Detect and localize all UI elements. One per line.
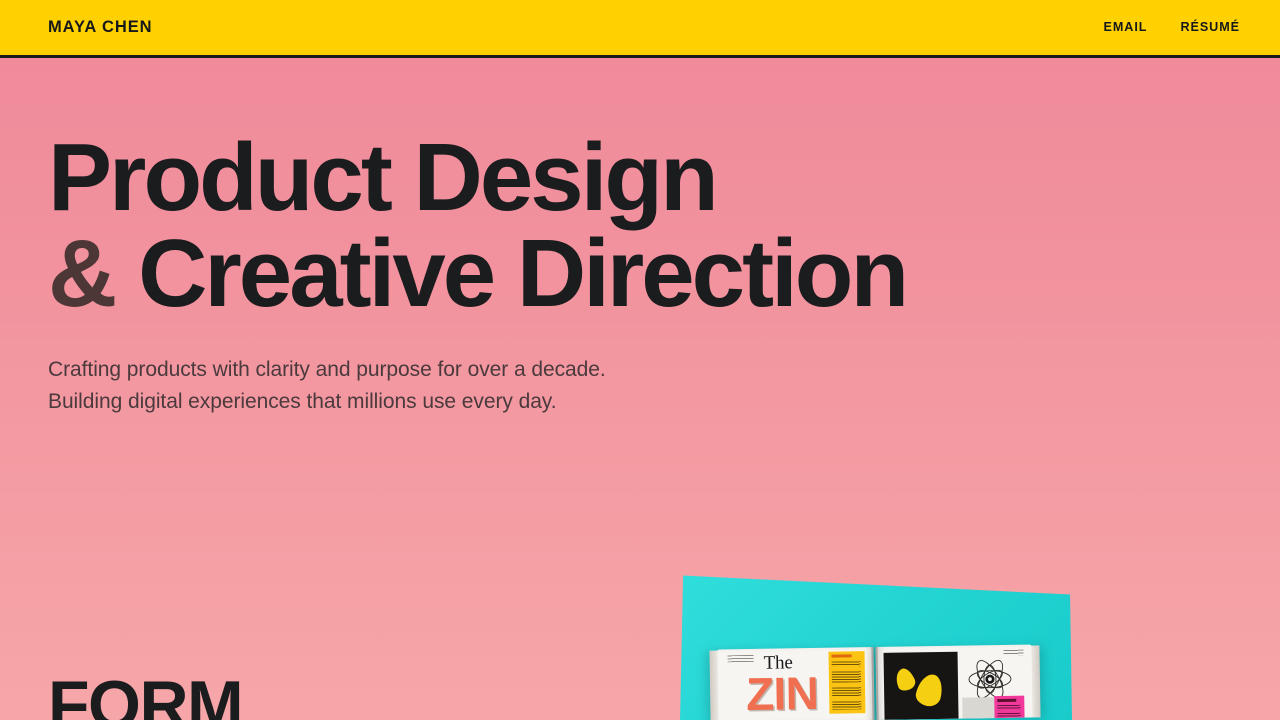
magazine-left-page: The ZIN: [717, 647, 874, 720]
magazine-spine: [871, 647, 878, 720]
open-magazine: The ZIN: [709, 644, 1040, 720]
pear-shape-small: [892, 666, 917, 693]
atom-diagram-icon: [966, 658, 1015, 701]
note-headline-bar: [997, 699, 1016, 702]
sidebar-text-lines: [832, 701, 861, 709]
headline-line-1: Product Design: [48, 124, 716, 231]
sidebar-headline-bar: [832, 654, 852, 657]
brand-logo[interactable]: MAYA CHEN: [48, 19, 152, 36]
sidebar-text-lines: [832, 671, 861, 682]
hero-section: Product Design & Creative Direction Craf…: [0, 58, 1280, 720]
note-text-lines: [997, 705, 1020, 710]
note-text-lines: [997, 713, 1020, 718]
hero-subcopy-line-2: Building digital experiences that millio…: [48, 386, 1008, 418]
primary-nav: EMAIL RÉSUMÉ: [1104, 21, 1240, 34]
magazine-right-page: [875, 645, 1032, 720]
hero-copy: Product Design & Creative Direction Craf…: [48, 130, 1008, 418]
right-page-micro-text: [1003, 650, 1023, 656]
magazine-masthead: ZIN: [746, 670, 819, 717]
headline-line-2: Creative Direction: [138, 220, 906, 327]
nav-link-email[interactable]: EMAIL: [1104, 21, 1148, 34]
hero-subcopy: Crafting products with clarity and purpo…: [48, 321, 1008, 418]
hero-photo: The ZIN: [676, 562, 1080, 720]
page-root: MAYA CHEN EMAIL RÉSUMÉ Product Design & …: [0, 0, 1280, 720]
section-heading-form: FORM: [48, 671, 242, 720]
page-title: Product Design & Creative Direction: [48, 130, 1008, 321]
left-page-yellow-sidebar: [828, 651, 865, 714]
right-page-magenta-note: [994, 696, 1024, 718]
right-page-gray-swatch: [962, 697, 994, 719]
sidebar-text-lines: [832, 687, 861, 696]
pear-shape-large: [914, 672, 946, 709]
sidebar-text-lines: [832, 661, 861, 666]
site-header: MAYA CHEN EMAIL RÉSUMÉ: [0, 0, 1280, 58]
right-page-black-panel: [884, 652, 959, 720]
headline-ampersand: &: [48, 220, 114, 327]
left-page-micro-text: [728, 655, 754, 662]
nav-link-resume[interactable]: RÉSUMÉ: [1180, 21, 1240, 34]
hero-subcopy-line-1: Crafting products with clarity and purpo…: [48, 354, 1008, 386]
